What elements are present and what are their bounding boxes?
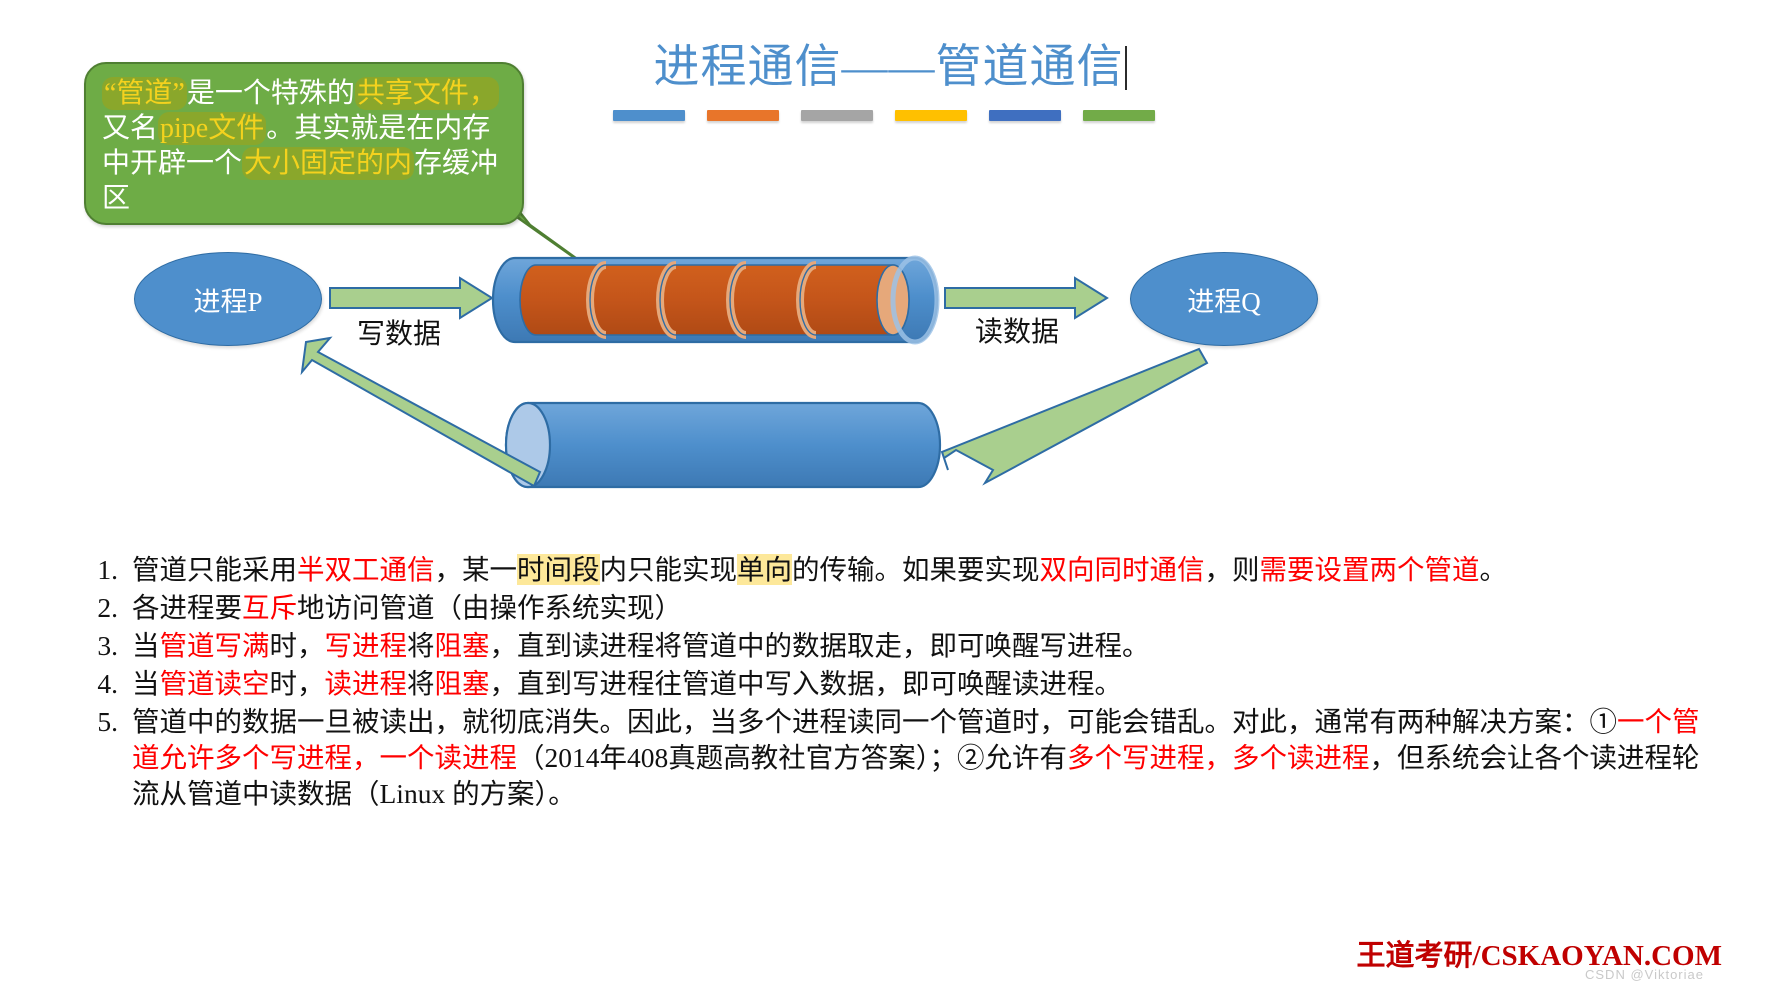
plain-span: 时， xyxy=(270,668,325,699)
plain-span: 地访问管道（由操作系统实现） xyxy=(297,592,682,623)
plain-span: 当 xyxy=(132,668,160,699)
callout-bubble: “管道”是一个特殊的共享文件，又名pipe文件。其实就是在内存中开辟一个大小固定… xyxy=(84,62,524,225)
list-item-number: 1. xyxy=(78,552,132,588)
list-item-text: 各进程要互斥地访问管道（由操作系统实现） xyxy=(132,590,1718,626)
emphasis-red-span: 半双工通信 xyxy=(297,554,435,585)
callout-text: “管道”是一个特殊的共享文件，又名pipe文件。其实就是在内存中开辟一个大小固定… xyxy=(102,76,514,216)
plain-span: ，直到读进程将管道中的数据取走，即可唤醒写进程。 xyxy=(490,630,1150,661)
slide-canvas: 进程通信——管道通信 “管道”是一个特殊的共享文件，又名pipe文件。其实就是在… xyxy=(0,0,1784,996)
bar-blue xyxy=(613,110,685,121)
process-q-label: 进程Q xyxy=(1187,280,1261,319)
accent-bar-row xyxy=(613,110,1155,121)
highlight-yellow-span: 单向 xyxy=(737,554,792,585)
read-data-label: 读数据 xyxy=(975,310,1059,350)
arrow-feedback-to-p xyxy=(302,338,540,486)
process-p-node[interactable]: 进程P xyxy=(134,252,322,346)
page-title: 进程通信——管道通信 xyxy=(480,30,1300,96)
write-data-label: 写数据 xyxy=(357,312,441,352)
callout-highlight-span: 共享文件， xyxy=(355,77,499,110)
emphasis-red-span: 读进程 xyxy=(325,668,408,699)
emphasis-red-span: 多个写进程，多个读进程 xyxy=(1067,742,1370,773)
emphasis-red-span: 阻塞 xyxy=(435,668,490,699)
list-item: 1.管道只能采用半双工通信，某一时间段内只能实现单向的传输。如果要实现双向同时通… xyxy=(78,552,1718,588)
emphasis-red-span: 双向同时通信 xyxy=(1040,554,1205,585)
emphasis-red-span: 互斥 xyxy=(242,592,297,623)
emphasis-red-span: 管道读空 xyxy=(160,668,270,699)
bar-orange xyxy=(707,110,779,121)
plain-span: 。 xyxy=(1480,554,1508,585)
page-title-text: 进程通信——管道通信 xyxy=(654,41,1124,92)
plain-span: 内只能实现 xyxy=(600,554,738,585)
process-q-node[interactable]: 进程Q xyxy=(1130,252,1318,346)
plain-span: 当 xyxy=(132,630,160,661)
emphasis-red-span: 阻塞 xyxy=(435,630,490,661)
list-item-number: 3. xyxy=(78,628,132,664)
plain-span: 将 xyxy=(407,630,435,661)
bar-gray xyxy=(801,110,873,121)
watermark-text: CSDN @Viktoriae xyxy=(1585,967,1704,982)
list-item: 4.当管道读空时，读进程将阻塞，直到写进程往管道中写入数据，即可唤醒读进程。 xyxy=(78,666,1718,702)
process-p-label: 进程P xyxy=(193,280,262,319)
callout-highlight-span: pipe文件 xyxy=(158,112,266,145)
callout-plain-span: 又名 xyxy=(102,113,158,144)
arrow-feedback-from-q xyxy=(942,349,1207,483)
plain-span: ，某一 xyxy=(435,554,518,585)
plain-span: 管道中的数据一旦被读出，就彻底消失。因此，当多个进程读同一个管道时，可能会错乱。… xyxy=(132,706,1617,737)
bar-green xyxy=(1083,110,1155,121)
callout-highlight-span: “管道” xyxy=(102,77,187,110)
plain-span: 将 xyxy=(407,668,435,699)
emphasis-red-span: 管道写满 xyxy=(160,630,270,661)
plain-span: 的传输。如果要实现 xyxy=(792,554,1040,585)
plain-span: 各进程要 xyxy=(132,592,242,623)
plain-span: ，则 xyxy=(1205,554,1260,585)
list-item: 2.各进程要互斥地访问管道（由操作系统实现） xyxy=(78,590,1718,626)
highlight-yellow-span: 时间段 xyxy=(517,554,600,585)
bar-yellow xyxy=(895,110,967,121)
bar-darkblue xyxy=(989,110,1061,121)
list-item-number: 2. xyxy=(78,590,132,626)
plain-span: 时， xyxy=(270,630,325,661)
text-caret xyxy=(1125,46,1127,90)
list-item-number: 4. xyxy=(78,666,132,702)
pipe-empty-blue xyxy=(506,403,940,487)
list-item: 5.管道中的数据一旦被读出，就彻底消失。因此，当多个进程读同一个管道时，可能会错… xyxy=(78,704,1718,812)
list-item-text: 当管道写满时，写进程将阻塞，直到读进程将管道中的数据取走，即可唤醒写进程。 xyxy=(132,628,1718,664)
list-item-number: 5. xyxy=(78,704,132,740)
callout-highlight-span: 大小固定的内 xyxy=(242,147,414,180)
list-item-text: 管道中的数据一旦被读出，就彻底消失。因此，当多个进程读同一个管道时，可能会错乱。… xyxy=(132,704,1718,812)
bullet-list: 1.管道只能采用半双工通信，某一时间段内只能实现单向的传输。如果要实现双向同时通… xyxy=(78,552,1718,814)
list-item-text: 当管道读空时，读进程将阻塞，直到写进程往管道中写入数据，即可唤醒读进程。 xyxy=(132,666,1718,702)
emphasis-red-span: 写进程 xyxy=(325,630,408,661)
list-item: 3.当管道写满时，写进程将阻塞，直到读进程将管道中的数据取走，即可唤醒写进程。 xyxy=(78,628,1718,664)
pipe-full-orange xyxy=(493,258,937,342)
plain-span: ，直到写进程往管道中写入数据，即可唤醒读进程。 xyxy=(490,668,1123,699)
plain-span: 管道只能采用 xyxy=(132,554,297,585)
callout-plain-span: 是一个特殊的 xyxy=(187,78,355,109)
plain-span: （2014年408真题高教社官方答案）；②允许有 xyxy=(517,742,1067,773)
list-item-text: 管道只能采用半双工通信，某一时间段内只能实现单向的传输。如果要实现双向同时通信，… xyxy=(132,552,1718,588)
emphasis-red-span: 需要设置两个管道 xyxy=(1260,554,1480,585)
